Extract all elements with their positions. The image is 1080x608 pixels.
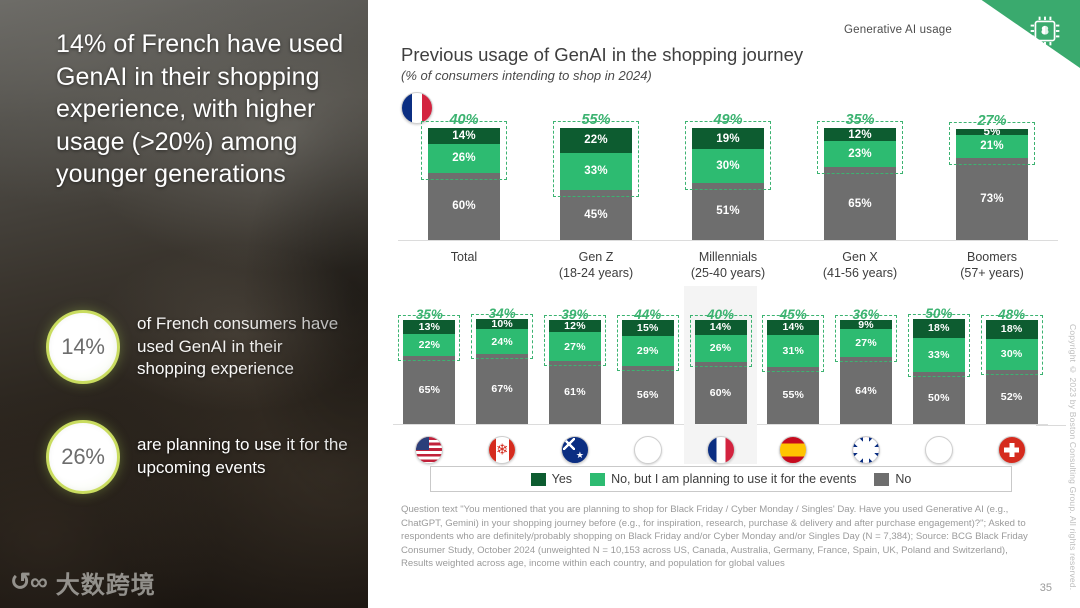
bar-segment-plan: 29%	[622, 336, 674, 366]
chart-legend: YesNo, but I am planning to use it for t…	[430, 466, 1012, 492]
category-total-label: 50%	[899, 306, 979, 321]
bar-segment-value: 14%	[710, 321, 732, 333]
bar-segment-no: 55%	[767, 367, 819, 424]
bar-segment-value: 55%	[782, 389, 804, 401]
bar-segment-yes: 14%	[767, 320, 819, 335]
stat-circle-2: 26%	[46, 420, 120, 494]
stacked-bar[interactable]: 14%31%55%	[767, 320, 819, 424]
bar-column: 12%27%61%	[549, 320, 601, 424]
footnote: Question text "You mentioned that you ar…	[401, 503, 1041, 571]
chart-countries: 13%22%65%35%10%24%67%34%❄12%27%61%39%15%…	[368, 0, 1080, 470]
us-flag-icon	[415, 436, 443, 464]
legend-item[interactable]: No	[874, 472, 911, 486]
canada-flag-icon: ❄	[488, 436, 516, 464]
stat-text-1: of French consumers have used GenAI in t…	[137, 313, 352, 381]
slide: 14% of French have used GenAI in their s…	[0, 0, 1080, 608]
bar-segment-value: 60%	[710, 387, 732, 399]
bar-segment-value: 15%	[637, 322, 659, 334]
stat-block-2: 26% are planning to use it for the upcom…	[46, 420, 366, 494]
bar-segment-value: 13%	[419, 321, 441, 333]
spain-flag-icon	[779, 436, 807, 464]
bar-segment-value: 26%	[710, 342, 732, 354]
bar-segment-no: 60%	[695, 362, 747, 424]
category-total-label: 44%	[608, 307, 688, 322]
switzerland-flag-icon	[998, 436, 1026, 464]
legend-swatch	[874, 473, 889, 486]
bar-segment-no: 61%	[549, 361, 601, 424]
stacked-bar[interactable]: 13%22%65%	[403, 320, 455, 424]
bar-segment-no: 50%	[913, 372, 965, 424]
bar-segment-yes: 14%	[695, 320, 747, 335]
bar-segment-no: 52%	[986, 370, 1038, 424]
divider	[1036, 425, 1066, 426]
category-total-label: 39%	[535, 307, 615, 322]
bar-column: 15%29%56%	[622, 320, 674, 424]
page-number: 35	[1040, 582, 1052, 594]
bar-segment-yes: 13%	[403, 320, 455, 334]
stacked-bar[interactable]: 10%24%67%	[476, 319, 528, 424]
germany-flag-icon	[634, 436, 662, 464]
page-title: 14% of French have used GenAI in their s…	[56, 28, 356, 191]
stat-circle-1: 14%	[46, 310, 120, 384]
bar-column: 13%22%65%	[403, 320, 455, 424]
bar-segment-plan: 27%	[840, 329, 892, 357]
bar-segment-value: 64%	[855, 385, 877, 397]
category-total-label: 36%	[826, 307, 906, 322]
bar-segment-no: 67%	[476, 354, 528, 424]
category-total-label: 45%	[753, 307, 833, 322]
stacked-bar[interactable]: 9%27%64%	[840, 320, 892, 424]
legend-swatch	[590, 473, 605, 486]
content-panel: Generative AI usage Previous usage of Ge…	[368, 0, 1080, 608]
bar-segment-value: 27%	[564, 341, 586, 353]
maple-leaf-icon: ❄	[496, 443, 509, 458]
bar-segment-yes: 18%	[986, 320, 1038, 339]
bar-column: 18%33%50%	[913, 320, 965, 424]
australia-flag-icon	[561, 436, 589, 464]
legend-label: No	[895, 472, 911, 486]
bar-segment-no: 65%	[403, 356, 455, 424]
bar-segment-value: 56%	[637, 389, 659, 401]
stacked-bar[interactable]: 15%29%56%	[622, 320, 674, 424]
bar-column: 9%27%64%	[840, 320, 892, 424]
watermark-label: 大数跨境	[56, 565, 156, 600]
left-hero-panel: 14% of French have used GenAI in their s…	[0, 0, 368, 608]
bar-segment-value: 31%	[782, 345, 804, 357]
bar-segment-yes: 18%	[913, 319, 965, 338]
legend-item[interactable]: Yes	[531, 472, 572, 486]
stat-value-2: 26%	[61, 444, 104, 470]
bar-segment-no: 56%	[622, 366, 674, 424]
bar-column: 14%26%60%	[695, 320, 747, 424]
bar-segment-value: 33%	[928, 349, 950, 361]
bar-segment-value: 29%	[637, 345, 659, 357]
bar-column: 14%31%55%	[767, 320, 819, 424]
bar-column: 10%24%67%	[476, 320, 528, 424]
bar-segment-plan: 31%	[767, 335, 819, 367]
bar-segment-value: 30%	[1001, 348, 1023, 360]
bar-segment-value: 12%	[564, 320, 586, 332]
watermark-logo-icon: ↺∞	[10, 570, 47, 595]
france-flag-icon	[707, 436, 735, 464]
bar-segment-plan: 26%	[695, 335, 747, 362]
bar-segment-value: 22%	[419, 339, 441, 351]
legend-label: No, but I am planning to use it for the …	[611, 472, 856, 486]
bar-segment-plan: 33%	[913, 338, 965, 372]
bar-segment-value: 61%	[564, 386, 586, 398]
bar-segment-value: 18%	[928, 322, 950, 334]
uk-flag-icon	[852, 436, 880, 464]
bar-segment-value: 67%	[491, 383, 513, 395]
bar-segment-value: 24%	[491, 336, 513, 348]
bar-segment-plan: 22%	[403, 334, 455, 357]
bar-segment-yes: 15%	[622, 320, 674, 336]
bar-segment-value: 18%	[1001, 323, 1023, 335]
stat-block-1: 14% of French consumers have used GenAI …	[46, 310, 366, 384]
bar-segment-value: 50%	[928, 392, 950, 404]
copyright-notice: Copyright © 2023 by Boston Consulting Gr…	[1068, 324, 1078, 590]
bar-segment-value: 14%	[782, 321, 804, 333]
legend-label: Yes	[552, 472, 572, 486]
legend-item[interactable]: No, but I am planning to use it for the …	[590, 472, 856, 486]
stat-text-2: are planning to use it for the upcoming …	[137, 434, 352, 480]
poland-flag-icon	[925, 436, 953, 464]
bar-segment-no: 64%	[840, 357, 892, 424]
bar-segment-plan: 27%	[549, 332, 601, 360]
stacked-bar[interactable]: 14%26%60%	[695, 320, 747, 424]
bar-segment-plan: 30%	[986, 339, 1038, 370]
stacked-bar[interactable]: 12%27%61%	[549, 320, 601, 424]
stat-value-1: 14%	[61, 334, 104, 360]
category-total-label: 35%	[389, 307, 469, 322]
stacked-bar[interactable]: 18%33%50%	[913, 319, 965, 424]
bar-segment-value: 65%	[419, 384, 441, 396]
bar-column: 18%30%52%	[986, 320, 1038, 424]
watermark: ↺∞ 大数跨境	[10, 565, 156, 600]
bar-segment-plan: 24%	[476, 329, 528, 354]
category-total-label: 48%	[972, 307, 1052, 322]
bar-segment-value: 27%	[855, 337, 877, 349]
category-total-label: 40%	[681, 307, 761, 322]
bar-segment-value: 52%	[1001, 391, 1023, 403]
stacked-bar[interactable]: 18%30%52%	[986, 320, 1038, 424]
category-total-label: 34%	[462, 306, 542, 321]
legend-swatch	[531, 473, 546, 486]
union-jack-cross	[853, 437, 879, 463]
